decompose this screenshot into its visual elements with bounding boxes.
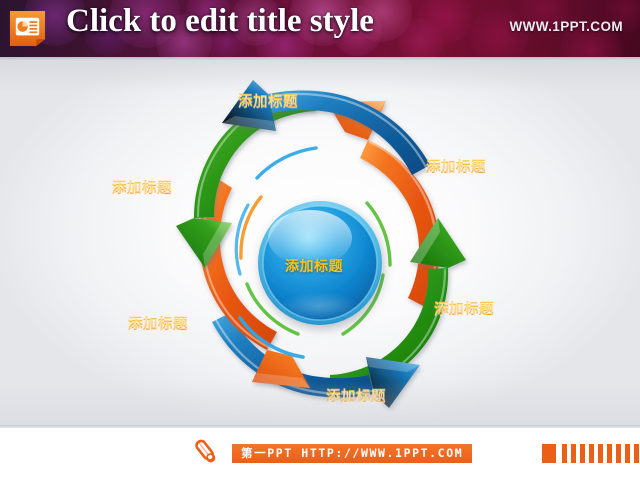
- arrow-orange-top: [327, 101, 440, 307]
- label-right-lower-reflection: 添加标题: [434, 301, 494, 314]
- footer-stripes: [542, 444, 640, 463]
- slide-body: 添加标题 添加标题 添加标题 添加标题 添加标题 添加标题 添加标题 添加标题 …: [0, 60, 640, 425]
- powerpoint-logo-icon: [8, 9, 47, 48]
- center-label-reflection: 添加标题: [285, 261, 343, 273]
- arrow-blue-bottom-right: [212, 313, 420, 408]
- center-circle: [258, 201, 382, 325]
- cycle-diagram: [0, 60, 640, 425]
- footer-divider: [0, 425, 640, 428]
- label-left-lower-reflection: 添加标题: [128, 316, 188, 329]
- footer-stripe: [542, 444, 556, 463]
- label-top-reflection: 添加标题: [238, 93, 298, 106]
- label-right-lower-text: 添加标题: [434, 298, 494, 319]
- footer-stripe: [607, 444, 612, 463]
- slide: Click to edit title style WWW.1PPT.COM: [0, 0, 640, 480]
- arrow-blue-top-left: [222, 80, 430, 175]
- slide-header: Click to edit title style WWW.1PPT.COM: [0, 0, 640, 57]
- header-url-label: WWW.1PPT.COM: [509, 19, 623, 34]
- footer-url-bar: 第一PPT HTTP://WWW.1PPT.COM: [232, 444, 472, 463]
- inner-accent-strokes: [236, 148, 401, 357]
- footer-stripe: [634, 444, 639, 463]
- pen-icon: [190, 436, 224, 470]
- label-left-upper-text: 添加标题: [112, 177, 172, 198]
- label-bottom-text: 添加标题: [326, 385, 386, 406]
- arrow-orange-bottom: [199, 177, 310, 388]
- label-top-text: 添加标题: [238, 90, 298, 111]
- footer-stripe: [571, 444, 576, 463]
- bokeh-circle: [398, 18, 444, 57]
- label-left-upper-reflection: 添加标题: [112, 180, 172, 193]
- label-bottom-reflection: 添加标题: [326, 388, 386, 401]
- label-right-upper-text: 添加标题: [426, 156, 486, 177]
- arrow-green-right: [330, 218, 466, 394]
- arrow-green-left: [176, 91, 316, 268]
- label-left-lower-text: 添加标题: [128, 313, 188, 334]
- footer-stripe: [616, 444, 621, 463]
- footer-stripe: [598, 444, 603, 463]
- page-title: Click to edit title style: [66, 3, 374, 40]
- center-label: 添加标题: [285, 256, 343, 276]
- footer-stripe: [589, 444, 594, 463]
- bokeh-circle: [418, 0, 472, 44]
- footer-stripe: [580, 444, 585, 463]
- footer-stripe: [625, 444, 630, 463]
- label-right-upper-reflection: 添加标题: [426, 159, 486, 172]
- footer-stripe: [562, 444, 567, 463]
